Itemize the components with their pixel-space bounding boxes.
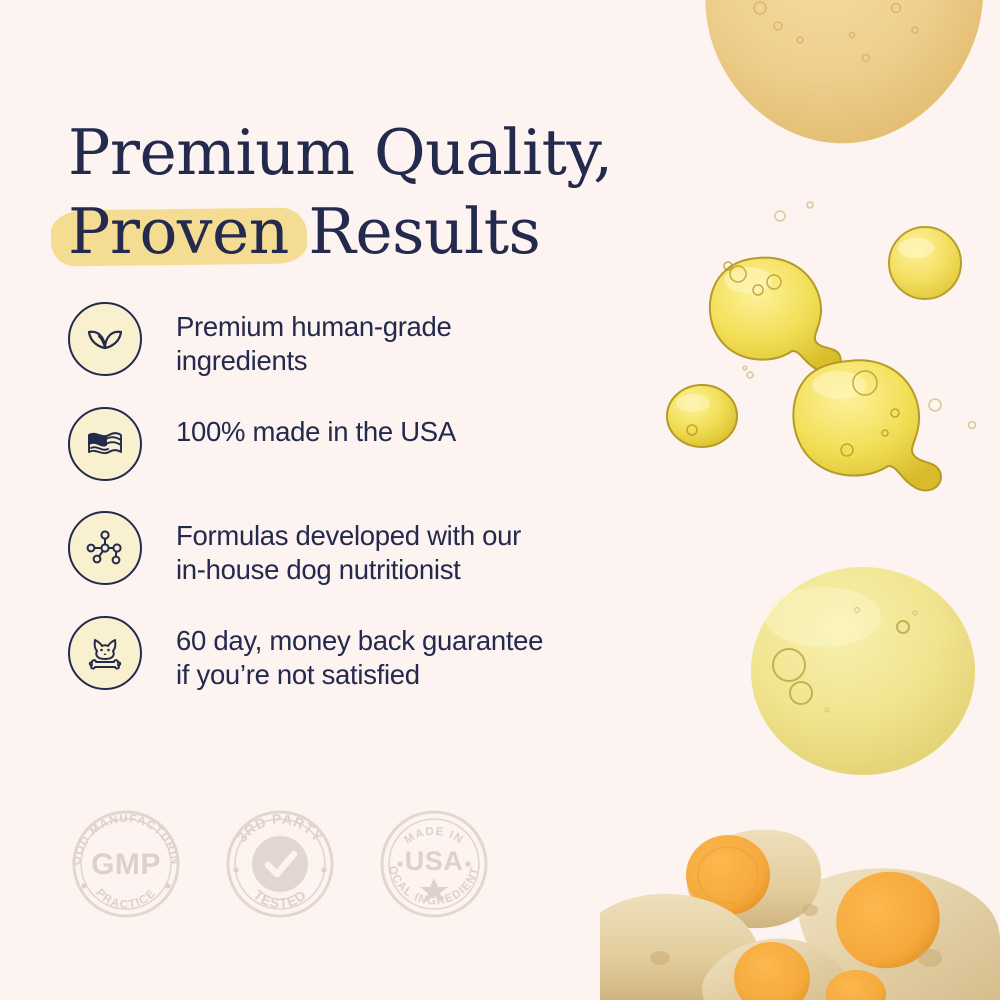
usa-center-text: USA xyxy=(405,846,464,876)
page-title: Premium Quality, Proven Results xyxy=(68,116,708,269)
oil-blob-top-right xyxy=(700,0,1000,170)
feature-line-1: Premium human-grade xyxy=(176,310,452,344)
gmp-badge: GOOD MANUFACTURING PRACTICE GMP xyxy=(62,808,190,920)
headline-line-2: Proven Results xyxy=(68,195,708,269)
molecule-icon xyxy=(68,511,142,585)
headline-highlight: Proven xyxy=(68,195,289,269)
gmp-center-text: GMP xyxy=(91,848,161,881)
feature-line-1: 60 day, money back guarantee xyxy=(176,624,543,658)
feature-line-1: 100% made in the USA xyxy=(176,415,456,449)
oil-drop-small-upper-right xyxy=(884,222,966,304)
feature-list: Premium human-grade ingredients 100% mad… xyxy=(68,302,628,691)
oil-drop-oval-left xyxy=(662,380,742,452)
usa-flag-icon xyxy=(68,407,142,481)
feature-item-ingredients: Premium human-grade ingredients xyxy=(68,302,628,377)
feature-text-formulas: Formulas developed with our in-house dog… xyxy=(176,511,521,586)
gmp-arc-bottom: PRACTICE xyxy=(93,887,158,911)
feature-text-made-in-usa: 100% made in the USA xyxy=(176,407,456,449)
promo-panel: Premium Quality, Proven Results Premium … xyxy=(0,0,1000,1000)
certification-badges: GOOD MANUFACTURING PRACTICE GMP xyxy=(62,808,498,920)
feature-line-1: Formulas developed with our xyxy=(176,519,521,553)
headline-line-1: Premium Quality, xyxy=(68,116,708,190)
headline-highlight-text: Proven xyxy=(68,195,289,268)
feature-item-guarantee: 60 day, money back guarantee if you’re n… xyxy=(68,616,628,691)
svg-text:PRACTICE: PRACTICE xyxy=(93,887,158,911)
svg-text:MADE IN: MADE IN xyxy=(402,826,465,847)
feature-line-2: ingredients xyxy=(176,344,452,378)
feature-line-2: if you’re not satisfied xyxy=(176,658,543,692)
oil-drop-teardrop-lower xyxy=(785,355,965,500)
headline-line-2-rest: Results xyxy=(289,195,540,268)
made-in-usa-badge: MADE IN LOCAL INGREDIENTS USA xyxy=(370,808,498,920)
oil-drop-teardrop-upper xyxy=(700,250,860,385)
feature-text-ingredients: Premium human-grade ingredients xyxy=(176,302,452,377)
oil-drop-large-lower-right xyxy=(745,565,990,780)
dog-bone-icon xyxy=(68,616,142,690)
feature-line-2: in-house dog nutritionist xyxy=(176,553,521,587)
feature-text-guarantee: 60 day, money back guarantee if you’re n… xyxy=(176,616,543,691)
leaf-icon xyxy=(68,302,142,376)
usa-arc-top: MADE IN xyxy=(402,826,465,847)
feature-item-made-in-usa: 100% made in the USA xyxy=(68,407,628,481)
feature-item-formulas: Formulas developed with our in-house dog… xyxy=(68,511,628,586)
third-party-tested-badge: 3RD PARTY TESTED xyxy=(216,808,344,920)
turmeric-roots xyxy=(600,818,1000,1000)
